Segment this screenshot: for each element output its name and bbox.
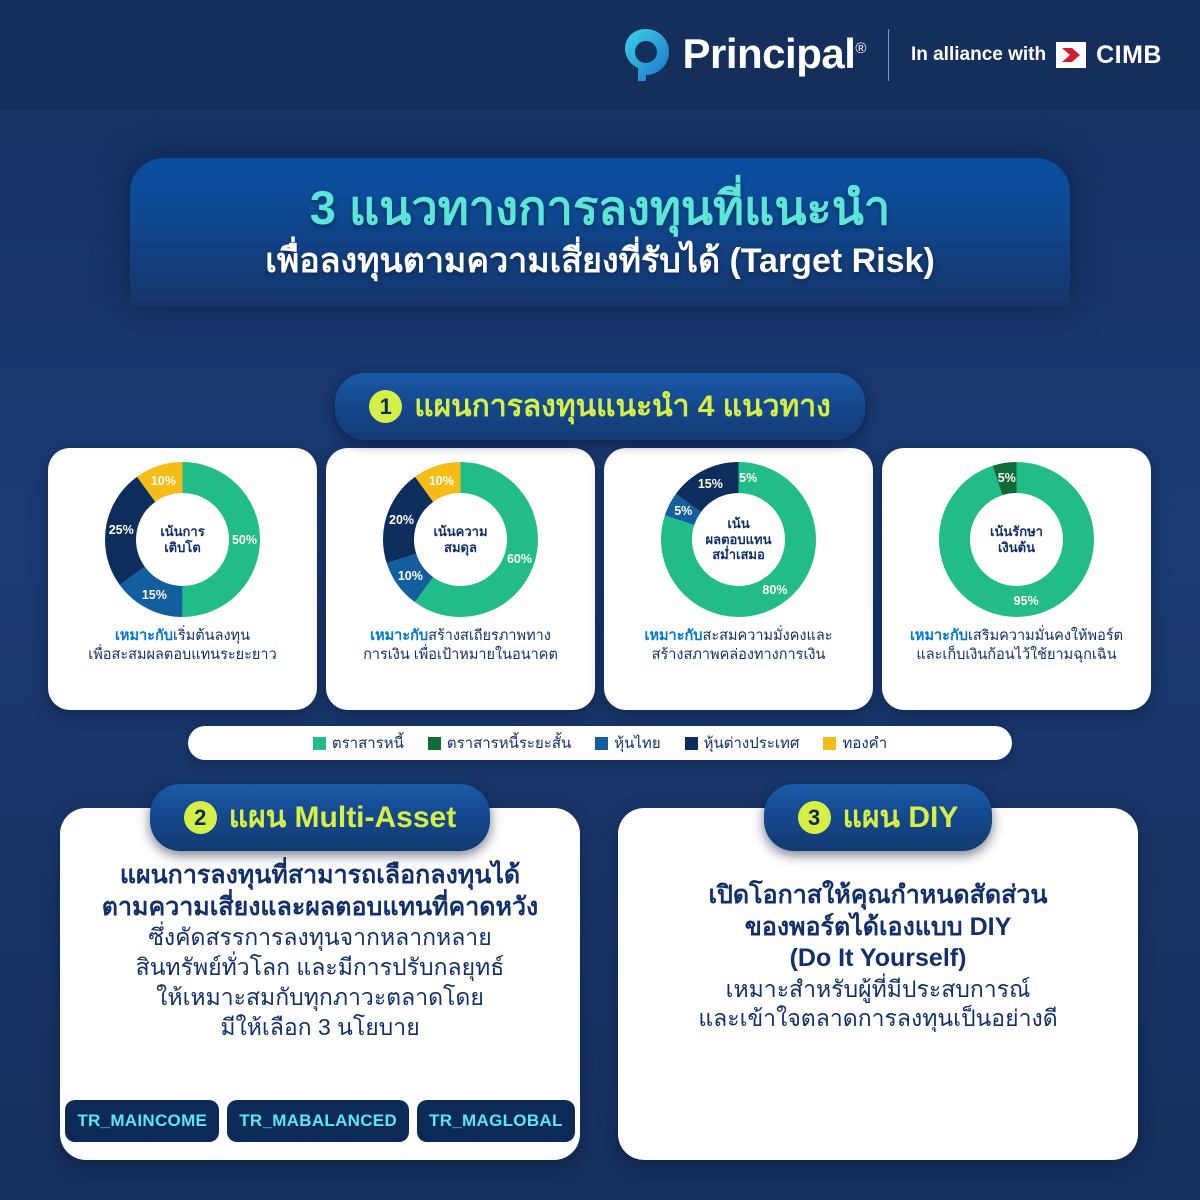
card-caption-line-2: สร้างสภาพคล่องทางการเงิน <box>644 646 832 665</box>
card-caption-line-2: เพื่อสะสมผลตอบแทนระยะยาว <box>88 646 276 665</box>
allocation-card: 50%15%25%10%เน้นการเติบโตเหมาะกับเริ่มต้… <box>48 448 317 710</box>
diy-line-1: เปิดโอกาสให้คุณกำหนดสัดส่วน <box>640 880 1116 912</box>
donut-svg <box>939 462 1094 617</box>
section-3-number-badge: 3 <box>798 801 831 834</box>
donut-svg <box>383 462 538 617</box>
section-1-header: 1 แผนการลงทุนแนะนำ 4 แนวทาง <box>0 373 1200 440</box>
donut-svg <box>105 462 260 617</box>
registered-mark-icon: ® <box>855 40 866 57</box>
section-2-pill: 2 แผน Multi-Asset <box>150 784 490 851</box>
legend-item: ตราสารหนี้ <box>313 731 404 755</box>
card-caption-line-1: เหมาะกับสร้างสเถียรภาพทาง <box>363 627 558 646</box>
cimb-wordmark: CIMB <box>1096 41 1162 70</box>
card-caption-highlight: เหมาะกับ <box>370 628 428 644</box>
legend-swatch-icon <box>595 737 608 750</box>
fund-code-tag[interactable]: TR_MAGLOBAL <box>417 1100 575 1142</box>
donut-chart: 80%5%15%5%เน้นผลตอบแทนสม่ำเสมอ <box>661 462 816 617</box>
alliance-lockup: In alliance with CIMB <box>911 41 1162 70</box>
legend-swatch-icon <box>823 737 836 750</box>
card-caption: เหมาะกับสร้างสเถียรภาพทางการเงิน เพื่อเป… <box>355 627 566 665</box>
legend-label: หุ้นต่างประเทศ <box>704 731 800 755</box>
page-subtitle: เพื่อลงทุนตามความเสี่ยงที่รับได้ (Target… <box>265 241 935 282</box>
card-caption: เหมาะกับสะสมความมั่งคงและสร้างสภาพคล่องท… <box>636 627 840 665</box>
brand-lockup: Principal® In alliance with CIMB <box>622 28 1162 82</box>
allocation-card: 95%5%เน้นรักษาเงินต้นเหมาะกับเสริมความมั… <box>882 448 1151 710</box>
multi-asset-line-4: สินทรัพย์ทั่วโลก และมีการปรับกลยุทธ์ <box>82 953 558 983</box>
section-1-pill: 1 แผนการลงทุนแนะนำ 4 แนวทาง <box>335 373 864 440</box>
title-banner: 3 แนวทางการลงทุนที่แนะนำ เพื่อลงทุนตามคว… <box>130 158 1070 306</box>
donut-chart: 50%15%25%10%เน้นการเติบโต <box>105 462 260 617</box>
header-bar: Principal® In alliance with CIMB <box>0 0 1200 110</box>
legend-item: หุ้นต่างประเทศ <box>685 731 800 755</box>
brand-divider <box>888 29 889 81</box>
legend-label: ทองคำ <box>842 731 887 755</box>
card-caption: เหมาะกับเสริมความมั่นคงให้พอร์ตและเก็บเง… <box>902 627 1131 665</box>
multi-asset-line-6: มีให้เลือก 3 นโยบาย <box>82 1013 558 1043</box>
legend-swatch-icon <box>685 737 698 750</box>
card-caption-line-1: เหมาะกับเริ่มต้นลงทุน <box>88 627 276 646</box>
donut-chart: 60%10%20%10%เน้นความสมดุล <box>383 462 538 617</box>
fund-code-tags: TR_MAINCOMETR_MABALANCEDTR_MAGLOBAL <box>60 1100 580 1142</box>
legend-label: ตราสารหนี้ <box>332 731 404 755</box>
multi-asset-line-5: ให้เหมาะสมกับทุกภาวะตลาดโดย <box>82 983 558 1013</box>
alliance-label: In alliance with <box>911 44 1046 66</box>
card-caption-line-2: การเงิน เพื่อเป้าหมายในอนาคต <box>363 646 558 665</box>
section-1-label: แผนการลงทุนแนะนำ 4 แนวทาง <box>414 383 830 430</box>
diy-panel: 3 แผน DIY เปิดโอกาสให้คุณกำหนดสัดส่วน ขอ… <box>618 808 1138 1160</box>
section-1-number-badge: 1 <box>369 390 402 423</box>
page-title: 3 แนวทางการลงทุนที่แนะนำ <box>310 182 890 235</box>
legend-item: ตราสารหนี้ระยะสั้น <box>428 731 571 755</box>
card-caption-line-1: เหมาะกับสะสมความมั่งคงและ <box>644 627 832 646</box>
card-caption-rest: สะสมความมั่งคงและ <box>702 628 832 644</box>
asset-legend: ตราสารหนี้ตราสารหนี้ระยะสั้นหุ้นไทยหุ้นต… <box>188 726 1012 760</box>
cimb-chevron-shape <box>1060 46 1082 64</box>
principal-logo: Principal® <box>622 28 865 82</box>
card-caption-line-1: เหมาะกับเสริมความมั่นคงให้พอร์ต <box>910 627 1123 646</box>
section-3-label: แผน DIY <box>843 794 959 841</box>
legend-label: ตราสารหนี้ระยะสั้น <box>447 731 571 755</box>
donut-segment <box>955 478 1079 602</box>
multi-asset-line-1: แผนการลงทุนที่สามารถเลือกลงทุนได้ <box>82 860 558 892</box>
diy-line-5: และเข้าใจตลาดการลงทุนเป็นอย่างดี <box>640 1004 1116 1034</box>
fund-code-tag[interactable]: TR_MAINCOME <box>65 1100 219 1142</box>
principal-wordmark: Principal® <box>682 33 865 75</box>
legend-item: หุ้นไทย <box>595 731 660 755</box>
card-caption-line-2: และเก็บเงินก้อนไว้ใช้ยามฉุกเฉิน <box>910 646 1123 665</box>
principal-p-logo-icon <box>622 28 672 82</box>
multi-asset-line-3: ซึ่งคัดสรรการลงทุนจากหลากหลาย <box>82 923 558 953</box>
donut-chart: 95%5%เน้นรักษาเงินต้น <box>939 462 1094 617</box>
multi-asset-panel: 2 แผน Multi-Asset แผนการลงทุนที่สามารถเล… <box>60 808 580 1160</box>
donut-svg <box>661 462 816 617</box>
card-caption-highlight: เหมาะกับ <box>644 628 702 644</box>
card-caption-highlight: เหมาะกับ <box>910 628 968 644</box>
diy-line-3: (Do It Yourself) <box>640 943 1116 975</box>
diy-line-4: เหมาะสำหรับผู้ที่มีประสบการณ์ <box>640 975 1116 1005</box>
section-3-pill: 3 แผน DIY <box>764 784 993 851</box>
allocation-card: 60%10%20%10%เน้นความสมดุลเหมาะกับสร้างสเ… <box>326 448 595 710</box>
card-caption-rest: สร้างสเถียรภาพทาง <box>428 628 551 644</box>
card-caption: เหมาะกับเริ่มต้นลงทุนเพื่อสะสมผลตอบแทนระ… <box>80 627 284 665</box>
section-2-number-badge: 2 <box>184 801 217 834</box>
legend-swatch-icon <box>428 737 441 750</box>
card-caption-highlight: เหมาะกับ <box>115 628 173 644</box>
section-2-header: 2 แผน Multi-Asset <box>60 784 580 851</box>
legend-swatch-icon <box>313 737 326 750</box>
allocation-cards-row: 50%15%25%10%เน้นการเติบโตเหมาะกับเริ่มต้… <box>48 448 1152 710</box>
section-3-header: 3 แผน DIY <box>618 784 1138 851</box>
legend-item: ทองคำ <box>823 731 887 755</box>
section-2-label: แผน Multi-Asset <box>229 794 456 841</box>
cimb-arrow-logo-icon <box>1056 42 1086 68</box>
multi-asset-line-2: ตามความเสี่ยงและผลตอบแทนที่คาดหวัง <box>82 892 558 924</box>
card-caption-rest: เริ่มต้นลงทุน <box>173 628 250 644</box>
fund-code-tag[interactable]: TR_MABALANCED <box>227 1100 409 1142</box>
diy-line-2: ของพอร์ตได้เองแบบ DIY <box>640 912 1116 944</box>
legend-label: หุ้นไทย <box>614 731 660 755</box>
allocation-card: 80%5%15%5%เน้นผลตอบแทนสม่ำเสมอเหมาะกับสะ… <box>604 448 873 710</box>
card-caption-rest: เสริมความมั่นคงให้พอร์ต <box>968 628 1123 644</box>
